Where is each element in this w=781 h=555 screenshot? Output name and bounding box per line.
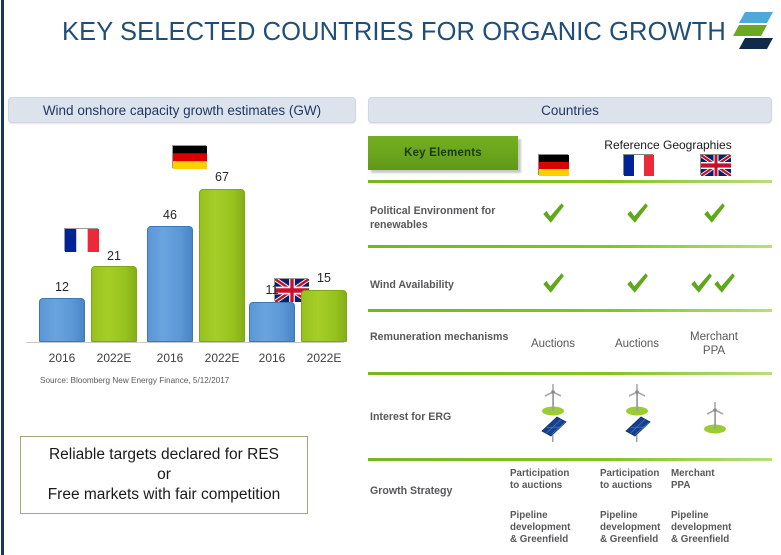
bar-uk-2016 <box>249 302 295 342</box>
solar-panel-icon <box>622 414 652 442</box>
page-title: KEY SELECTED COUNTRIES FOR ORGANIC GROWT… <box>62 18 722 47</box>
countries-comparison-table: Key Elements Reference Geographies <box>368 132 772 552</box>
erg-logo-icon <box>729 6 775 54</box>
bar-value-uk-2016: 11 <box>249 283 295 297</box>
right-panel-header: Countries <box>368 97 772 123</box>
callout-box: Reliable targets declared for RES or Fre… <box>20 436 308 514</box>
row-label-growth-strategy: Growth Strategy <box>370 484 520 498</box>
cell-growth-secondary-uk: Pipeline development & Greenfield <box>671 510 759 547</box>
row-separator <box>368 245 772 248</box>
row-separator <box>368 372 772 375</box>
slide-root: KEY SELECTED COUNTRIES FOR ORGANIC GROWT… <box>0 0 781 555</box>
check-icon <box>711 270 737 296</box>
bar-fr-2016 <box>39 298 85 342</box>
check-icon <box>624 200 650 226</box>
flag-france-icon <box>623 154 653 175</box>
x-label-fr-2022: 2022E <box>88 351 140 365</box>
wind-capacity-bar-chart: 12 21 46 67 11 15 2016 2022E 2016 2022E … <box>8 128 356 403</box>
key-elements-header: Key Elements <box>368 136 518 170</box>
left-panel-header: Wind onshore capacity growth estimates (… <box>8 97 356 123</box>
row-label-wind-availability: Wind Availability <box>370 278 520 292</box>
row-label-political-environment: Political Environment for renewables <box>370 204 520 233</box>
bar-fr-2022 <box>91 266 137 342</box>
x-label-de-2022: 2022E <box>196 351 248 365</box>
row-label-remuneration-mechanisms: Remuneration mechanisms <box>370 330 520 344</box>
row-separator <box>368 309 772 312</box>
left-edge-bar <box>1 0 4 555</box>
wind-turbine-icon <box>620 382 654 416</box>
reference-geographies-label: Reference Geographies <box>564 138 772 152</box>
flag-germany-icon <box>538 154 568 175</box>
wind-turbine-icon <box>536 382 570 416</box>
check-icon <box>540 270 566 296</box>
chart-source-note: Source: Bloomberg New Energy Finance, 5/… <box>40 376 229 385</box>
row-label-interest-for-erg: Interest for ERG <box>370 410 520 424</box>
bar-value-fr-2016: 12 <box>39 280 85 294</box>
bar-uk-2022 <box>301 290 347 342</box>
bar-de-2016 <box>147 226 193 342</box>
wind-turbine-icon <box>698 400 732 434</box>
chart-plot-area: 12 21 46 67 11 15 2016 2022E 2016 2022E … <box>8 128 356 373</box>
bar-value-fr-2022: 21 <box>91 249 137 263</box>
check-icon <box>701 200 727 226</box>
cell-growth-secondary-germany: Pipeline development & Greenfield <box>510 510 598 547</box>
callout-line-1: Reliable targets declared for RES <box>49 445 279 465</box>
x-label-fr-2016: 2016 <box>36 351 88 365</box>
callout-line-2: or <box>157 465 171 485</box>
x-label-uk-2022: 2022E <box>298 351 350 365</box>
bar-value-de-2016: 46 <box>147 208 193 222</box>
solar-panel-icon <box>538 414 568 442</box>
check-icon <box>540 200 566 226</box>
flag-uk-icon <box>700 154 730 175</box>
cell-remuneration-france: Auctions <box>593 337 681 351</box>
x-label-de-2016: 2016 <box>144 351 196 365</box>
slide-header: KEY SELECTED COUNTRIES FOR ORGANIC GROWT… <box>0 0 781 78</box>
bar-value-uk-2022: 15 <box>301 271 347 285</box>
cell-growth-primary-germany: Participation to auctions <box>510 468 598 492</box>
row-separator <box>368 458 772 461</box>
callout-line-3: Free markets with fair competition <box>48 485 281 505</box>
bar-de-2022 <box>199 189 245 342</box>
check-icon <box>624 270 650 296</box>
cell-growth-primary-uk: Merchant PPA <box>671 468 759 492</box>
x-label-uk-2016: 2016 <box>246 351 298 365</box>
flag-france-icon <box>64 228 98 251</box>
chart-x-axis <box>26 342 344 343</box>
cell-remuneration-uk: Merchant PPA <box>670 330 758 359</box>
flag-germany-icon <box>172 145 206 168</box>
row-separator <box>368 180 772 183</box>
bar-value-de-2022: 67 <box>199 170 245 184</box>
cell-remuneration-germany: Auctions <box>509 337 597 351</box>
